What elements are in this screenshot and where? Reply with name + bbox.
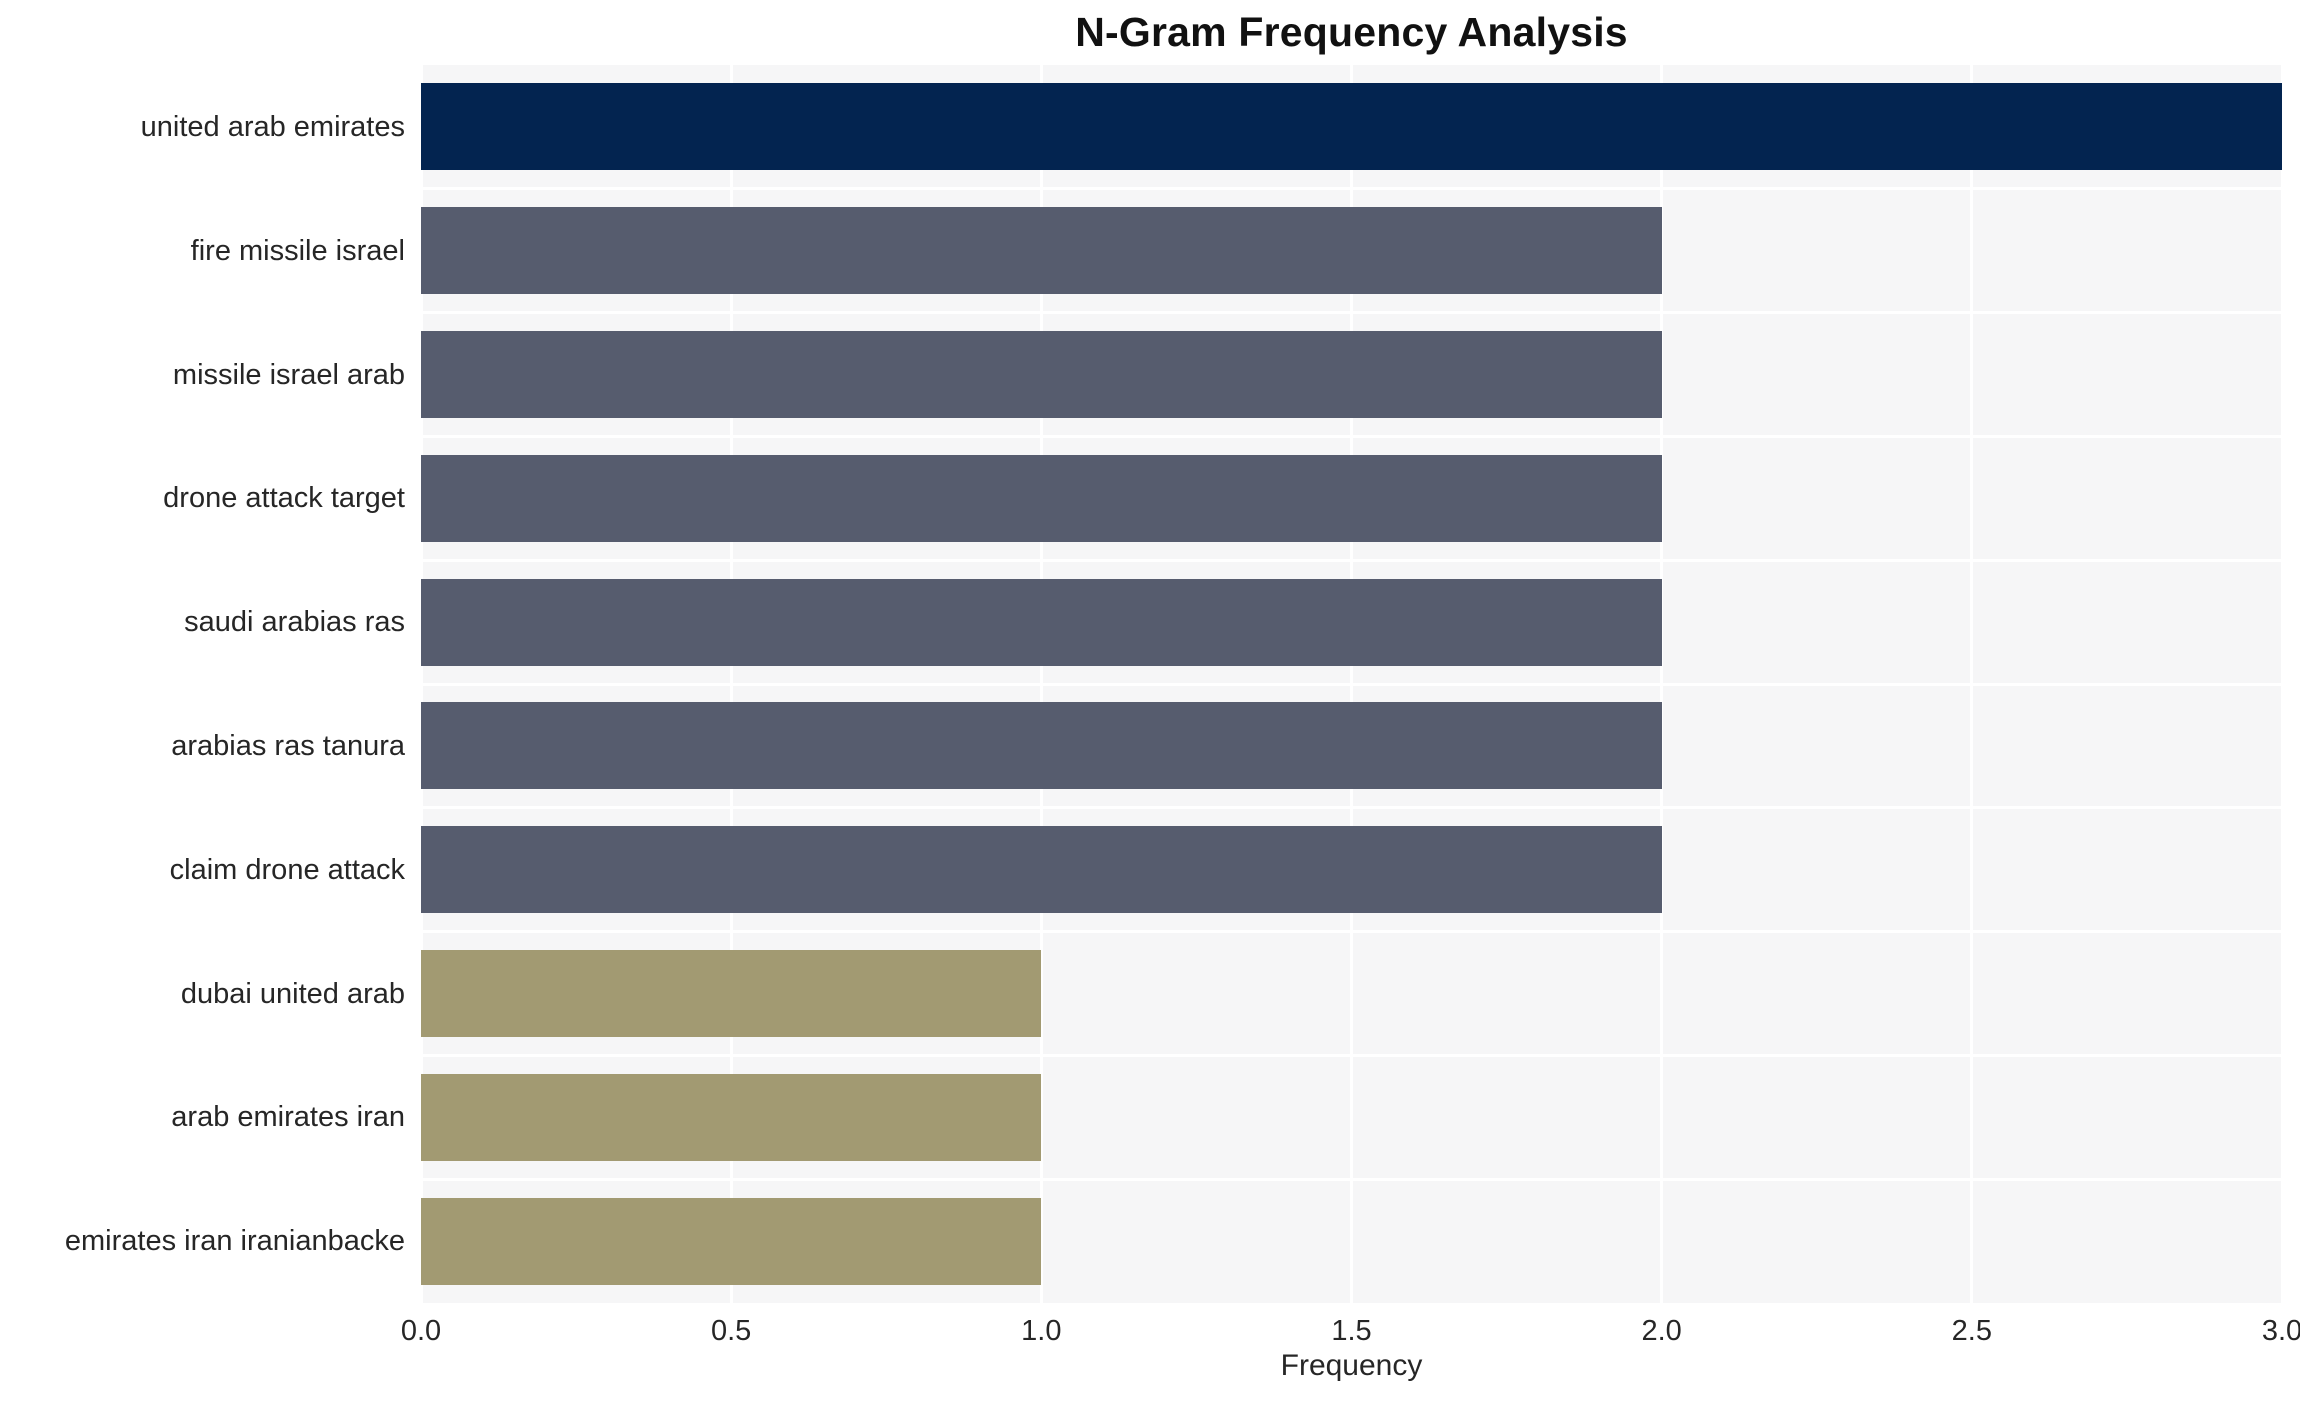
plot-area	[421, 65, 2282, 1303]
bar[interactable]	[421, 1198, 1041, 1285]
y-axis-tick-label: fire missile israel	[5, 234, 405, 268]
gridline-horizontal	[421, 311, 2282, 314]
y-axis-tick-label: arabias ras tanura	[5, 729, 405, 763]
bar[interactable]	[421, 207, 1662, 294]
bar[interactable]	[421, 826, 1662, 913]
y-axis-tick-label: dubai united arab	[5, 977, 405, 1011]
y-axis-tick-label: drone attack target	[5, 481, 405, 515]
x-axis-tick-label: 1.0	[961, 1314, 1121, 1348]
y-axis-tick-label: saudi arabias ras	[5, 605, 405, 639]
y-axis-tick-labels: united arab emiratesfire missile israelm…	[0, 65, 405, 1303]
page-title: N-Gram Frequency Analysis	[421, 8, 2282, 56]
y-axis-tick-label: united arab emirates	[5, 110, 405, 144]
bar[interactable]	[421, 455, 1662, 542]
bar[interactable]	[421, 331, 1662, 418]
bar[interactable]	[421, 702, 1662, 789]
y-axis-tick-label: claim drone attack	[5, 853, 405, 887]
x-axis-tick-label: 2.5	[1892, 1314, 2052, 1348]
gridline-horizontal	[421, 1054, 2282, 1057]
bar[interactable]	[421, 579, 1662, 666]
bar[interactable]	[421, 1074, 1041, 1161]
x-axis-tick-label: 1.5	[1272, 1314, 1432, 1348]
y-axis-tick-label: missile israel arab	[5, 358, 405, 392]
x-axis-title: Frequency	[421, 1348, 2282, 1384]
chart-figure: N-Gram Frequency Analysis united arab em…	[0, 0, 2300, 1402]
gridline-horizontal	[421, 930, 2282, 933]
x-axis-tick-label: 3.0	[2202, 1314, 2300, 1348]
bar[interactable]	[421, 950, 1041, 1037]
x-axis-tick-label: 0.5	[651, 1314, 811, 1348]
x-axis-tick-label: 0.0	[341, 1314, 501, 1348]
y-axis-tick-label: arab emirates iran	[5, 1100, 405, 1134]
gridline-horizontal	[421, 187, 2282, 190]
gridline-horizontal	[421, 435, 2282, 438]
y-axis-tick-label: emirates iran iranianbacke	[5, 1224, 405, 1258]
x-axis-tick-label: 2.0	[1582, 1314, 1742, 1348]
gridline-horizontal	[421, 559, 2282, 562]
gridline-horizontal	[421, 683, 2282, 686]
gridline-horizontal	[421, 1178, 2282, 1181]
gridline-horizontal	[421, 806, 2282, 809]
bar[interactable]	[421, 83, 2282, 170]
